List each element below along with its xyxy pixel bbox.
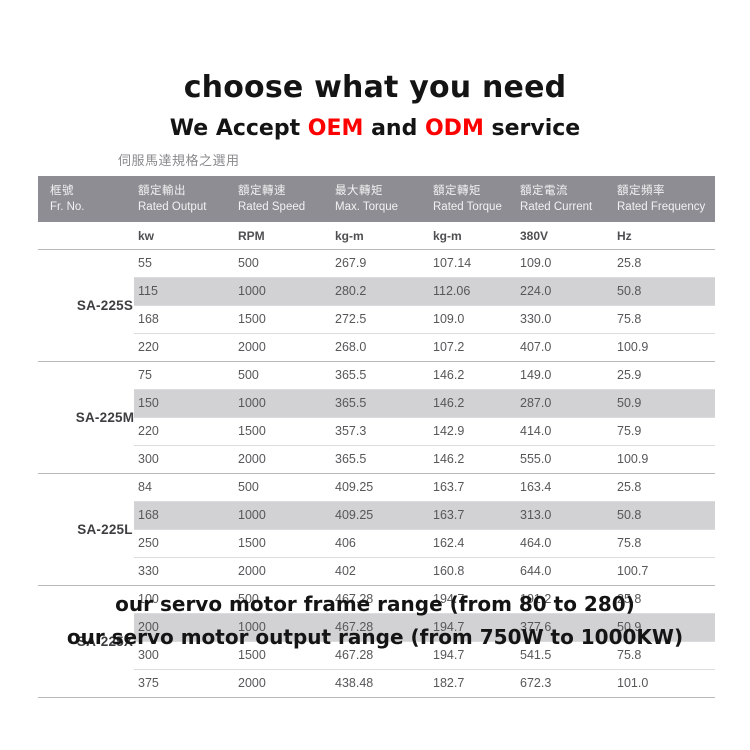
cell-rated-torque: 163.7 xyxy=(433,480,464,494)
cell-rated-current: 313.0 xyxy=(520,508,551,522)
frame-group: SA-225M 75 500 365.5 146.2 149.0 25.9 15… xyxy=(38,361,715,473)
cell-rated-frequency: 75.8 xyxy=(617,536,641,550)
table-row: 75 500 365.5 146.2 149.0 25.9 xyxy=(134,362,715,390)
cell-rated-output: 220 xyxy=(138,340,159,354)
cell-rated-output: 55 xyxy=(138,256,152,270)
cell-rated-speed: 2000 xyxy=(238,340,266,354)
cell-rated-speed: 500 xyxy=(238,480,259,494)
cell-max-torque: 365.5 xyxy=(335,368,366,382)
cell-rated-current: 672.3 xyxy=(520,676,551,690)
tagline-prefix: We Accept xyxy=(170,116,308,141)
column-header-en: Max. Torque xyxy=(335,199,398,216)
cell-max-torque: 409.25 xyxy=(335,480,373,494)
cell-rated-output: 220 xyxy=(138,424,159,438)
cell-rated-speed: 1500 xyxy=(238,648,266,662)
column-header-en: Rated Speed xyxy=(238,199,305,216)
cell-rated-frequency: 75.8 xyxy=(617,648,641,662)
cell-rated-current: 644.0 xyxy=(520,564,551,578)
table-row: 168 1000 409.25 163.7 313.0 50.8 xyxy=(134,502,715,530)
cell-rated-current: 224.0 xyxy=(520,284,551,298)
cell-rated-current: 163.4 xyxy=(520,480,551,494)
unit-max-torque: kg-m xyxy=(335,229,364,243)
column-header-en: Rated Frequency xyxy=(617,199,705,216)
cell-rated-frequency: 100.7 xyxy=(617,564,648,578)
column-header-cn: 最大轉矩 xyxy=(335,182,398,199)
cell-max-torque: 438.48 xyxy=(335,676,373,690)
cell-rated-current: 414.0 xyxy=(520,424,551,438)
cell-rated-frequency: 50.9 xyxy=(617,396,641,410)
unit-rated-torque: kg-m xyxy=(433,229,462,243)
table-row: 150 1000 365.5 146.2 287.0 50.9 xyxy=(134,390,715,418)
cell-rated-speed: 2000 xyxy=(238,676,266,690)
cell-rated-speed: 1500 xyxy=(238,424,266,438)
cell-max-torque: 365.5 xyxy=(335,396,366,410)
table-row: 300 2000 365.5 146.2 555.0 100.9 xyxy=(134,446,715,473)
cell-rated-frequency: 50.8 xyxy=(617,508,641,522)
cell-rated-torque: 112.06 xyxy=(433,284,470,298)
cell-rated-output: 84 xyxy=(138,480,152,494)
cell-max-torque: 272.5 xyxy=(335,312,366,326)
cell-rated-frequency: 25.9 xyxy=(617,368,641,382)
table-row: 220 1500 357.3 142.9 414.0 75.9 xyxy=(134,418,715,446)
table-row: 330 2000 402 160.8 644.0 100.7 xyxy=(134,558,715,585)
oem-odm-tagline: We Accept OEM and ODM service xyxy=(0,116,750,141)
page-root: choose what you need We Accept OEM and O… xyxy=(0,0,750,750)
footer-frame-range: our servo motor frame range (from 80 to … xyxy=(0,592,750,616)
column-header-cn: 額定轉矩 xyxy=(433,182,502,199)
unit-rated-current: 380V xyxy=(520,229,548,243)
table-row: 220 2000 268.0 107.2 407.0 100.9 xyxy=(134,334,715,361)
cell-rated-output: 75 xyxy=(138,368,152,382)
column-header-cn: 額定電流 xyxy=(520,182,592,199)
column-header-rated-current: 額定電流 Rated Current xyxy=(520,182,592,215)
cell-max-torque: 267.9 xyxy=(335,256,366,270)
column-header-rated-speed: 額定轉速 Rated Speed xyxy=(238,182,305,215)
cell-rated-speed: 500 xyxy=(238,256,259,270)
cell-rated-frequency: 25.8 xyxy=(617,480,641,494)
cell-rated-torque: 163.7 xyxy=(433,508,464,522)
cell-rated-speed: 1500 xyxy=(238,536,266,550)
column-header-en: Rated Current xyxy=(520,199,592,216)
cell-rated-torque: 162.4 xyxy=(433,536,464,550)
unit-rated-speed: RPM xyxy=(238,229,265,243)
cell-max-torque: 357.3 xyxy=(335,424,366,438)
column-header-en: Rated Torque xyxy=(433,199,502,216)
cell-max-torque: 467.28 xyxy=(335,648,373,662)
cell-rated-current: 330.0 xyxy=(520,312,551,326)
cell-rated-torque: 160.8 xyxy=(433,564,464,578)
column-header-cn: 額定輸出 xyxy=(138,182,206,199)
cell-rated-frequency: 75.8 xyxy=(617,312,641,326)
tagline-odm: ODM xyxy=(425,116,484,141)
cell-rated-torque: 107.14 xyxy=(433,256,471,270)
cell-rated-frequency: 75.9 xyxy=(617,424,641,438)
column-header-cn: 額定轉速 xyxy=(238,182,305,199)
page-title: choose what you need xyxy=(0,70,750,105)
cell-rated-output: 250 xyxy=(138,536,159,550)
column-header-rated-output: 額定輸出 Rated Output xyxy=(138,182,206,215)
column-header-en: Rated Output xyxy=(138,199,206,216)
cell-rated-output: 375 xyxy=(138,676,159,690)
frame-group: SA-225S 55 500 267.9 107.14 109.0 25.8 1… xyxy=(38,249,715,361)
cell-rated-torque: 107.2 xyxy=(433,340,464,354)
cell-rated-torque: 109.0 xyxy=(433,312,464,326)
cell-rated-speed: 1000 xyxy=(238,284,266,298)
cell-max-torque: 268.0 xyxy=(335,340,366,354)
table-row: 84 500 409.25 163.7 163.4 25.8 xyxy=(134,474,715,502)
cell-rated-current: 109.0 xyxy=(520,256,551,270)
column-header-cn: 額定頻率 xyxy=(617,182,705,199)
table-caption-cn: 伺服馬達規格之選用 xyxy=(118,150,240,169)
spec-table: 框號 Fr. No. 額定輸出 Rated Output 額定轉速 Rated … xyxy=(38,176,715,698)
tagline-oem: OEM xyxy=(308,116,364,141)
cell-rated-output: 168 xyxy=(138,508,159,522)
cell-rated-current: 287.0 xyxy=(520,396,551,410)
cell-rated-torque: 142.9 xyxy=(433,424,464,438)
table-unit-row: kw RPM kg-m kg-m 380V Hz xyxy=(38,222,715,249)
footer-output-range: our servo motor output range (from 750W … xyxy=(0,625,750,649)
table-row: 250 1500 406 162.4 464.0 75.8 xyxy=(134,530,715,558)
cell-rated-frequency: 25.8 xyxy=(617,256,641,270)
cell-rated-torque: 146.2 xyxy=(433,396,464,410)
cell-rated-speed: 2000 xyxy=(238,564,266,578)
tagline-mid: and xyxy=(363,116,425,141)
cell-rated-frequency: 101.0 xyxy=(617,676,648,690)
cell-max-torque: 402 xyxy=(335,564,356,578)
table-row: 375 2000 438.48 182.7 672.3 101.0 xyxy=(134,670,715,697)
cell-max-torque: 409.25 xyxy=(335,508,373,522)
tagline-suffix: service xyxy=(484,116,580,141)
cell-rated-output: 300 xyxy=(138,452,159,466)
cell-rated-torque: 194.7 xyxy=(433,648,464,662)
column-header-rated-frequency: 額定頻率 Rated Frequency xyxy=(617,182,705,215)
column-header-max-torque: 最大轉矩 Max. Torque xyxy=(335,182,398,215)
column-header-frame-no: 框號 Fr. No. xyxy=(50,182,85,215)
cell-rated-speed: 1500 xyxy=(238,312,266,326)
cell-rated-torque: 146.2 xyxy=(433,452,464,466)
column-header-rated-torque: 額定轉矩 Rated Torque xyxy=(433,182,502,215)
cell-rated-speed: 1000 xyxy=(238,396,266,410)
cell-rated-current: 149.0 xyxy=(520,368,551,382)
cell-rated-output: 330 xyxy=(138,564,159,578)
cell-rated-frequency: 50.8 xyxy=(617,284,641,298)
table-header-row: 框號 Fr. No. 額定輸出 Rated Output 額定轉速 Rated … xyxy=(38,176,715,222)
column-header-cn: 框號 xyxy=(50,182,85,199)
cell-max-torque: 280.2 xyxy=(335,284,366,298)
cell-rated-current: 407.0 xyxy=(520,340,551,354)
cell-rated-output: 115 xyxy=(138,284,158,298)
frame-group: SA-225L 84 500 409.25 163.7 163.4 25.8 1… xyxy=(38,473,715,585)
cell-rated-torque: 146.2 xyxy=(433,368,464,382)
cell-max-torque: 406 xyxy=(335,536,356,550)
cell-rated-output: 300 xyxy=(138,648,159,662)
cell-rated-output: 168 xyxy=(138,312,159,326)
cell-rated-torque: 182.7 xyxy=(433,676,464,690)
cell-rated-frequency: 100.9 xyxy=(617,452,648,466)
unit-rated-output: kw xyxy=(138,229,154,243)
cell-rated-speed: 500 xyxy=(238,368,259,382)
cell-rated-output: 150 xyxy=(138,396,159,410)
cell-rated-frequency: 100.9 xyxy=(617,340,648,354)
cell-max-torque: 365.5 xyxy=(335,452,366,466)
table-row: 55 500 267.9 107.14 109.0 25.8 xyxy=(134,250,715,278)
cell-rated-current: 464.0 xyxy=(520,536,551,550)
cell-rated-speed: 2000 xyxy=(238,452,266,466)
cell-rated-current: 555.0 xyxy=(520,452,551,466)
column-header-en: Fr. No. xyxy=(50,199,85,216)
table-row: 115 1000 280.2 112.06 224.0 50.8 xyxy=(134,278,715,306)
unit-rated-frequency: Hz xyxy=(617,229,632,243)
cell-rated-current: 541.5 xyxy=(520,648,551,662)
cell-rated-speed: 1000 xyxy=(238,508,266,522)
table-row: 168 1500 272.5 109.0 330.0 75.8 xyxy=(134,306,715,334)
